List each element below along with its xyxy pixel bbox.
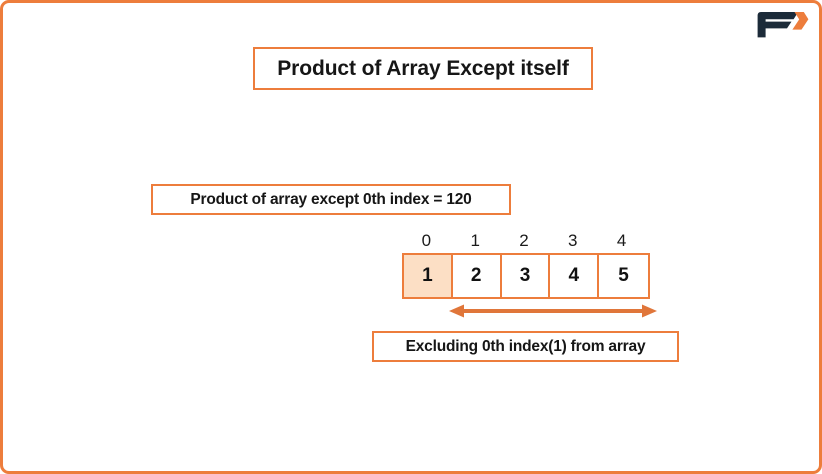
array-index-0: 0 [402,231,451,253]
arrow-head-right [642,305,657,318]
array-cell-row: 1 2 3 4 5 [402,253,650,299]
product-result-label: Product of array except 0th index = 120 [151,184,511,215]
array-diagram: 0 1 2 3 4 1 2 3 4 5 [402,231,650,299]
array-index-3: 3 [548,231,597,253]
array-cell-0: 1 [404,255,453,297]
array-index-1: 1 [451,231,500,253]
double-headed-arrow [447,300,659,322]
array-cell-4: 5 [599,255,648,297]
array-cell-2: 3 [502,255,551,297]
exclude-label-text: Excluding 0th index(1) from array [406,338,646,356]
f-arrow-logo-icon [757,10,809,40]
f-arrow-logo [757,10,809,40]
exclude-label: Excluding 0th index(1) from array [372,331,679,362]
array-index-4: 4 [597,231,646,253]
slide-canvas: Product of Array Except itself Product o… [0,0,822,474]
array-index-row: 0 1 2 3 4 [402,231,650,253]
logo-letter-f [758,12,799,37]
double-headed-arrow-icon [447,300,659,322]
arrow-head-left [449,305,464,318]
array-cell-1: 2 [453,255,502,297]
product-result-text: Product of array except 0th index = 120 [190,191,471,209]
array-cell-3: 4 [550,255,599,297]
page-title: Product of Array Except itself [253,47,593,90]
page-title-text: Product of Array Except itself [277,57,568,81]
array-index-2: 2 [500,231,549,253]
